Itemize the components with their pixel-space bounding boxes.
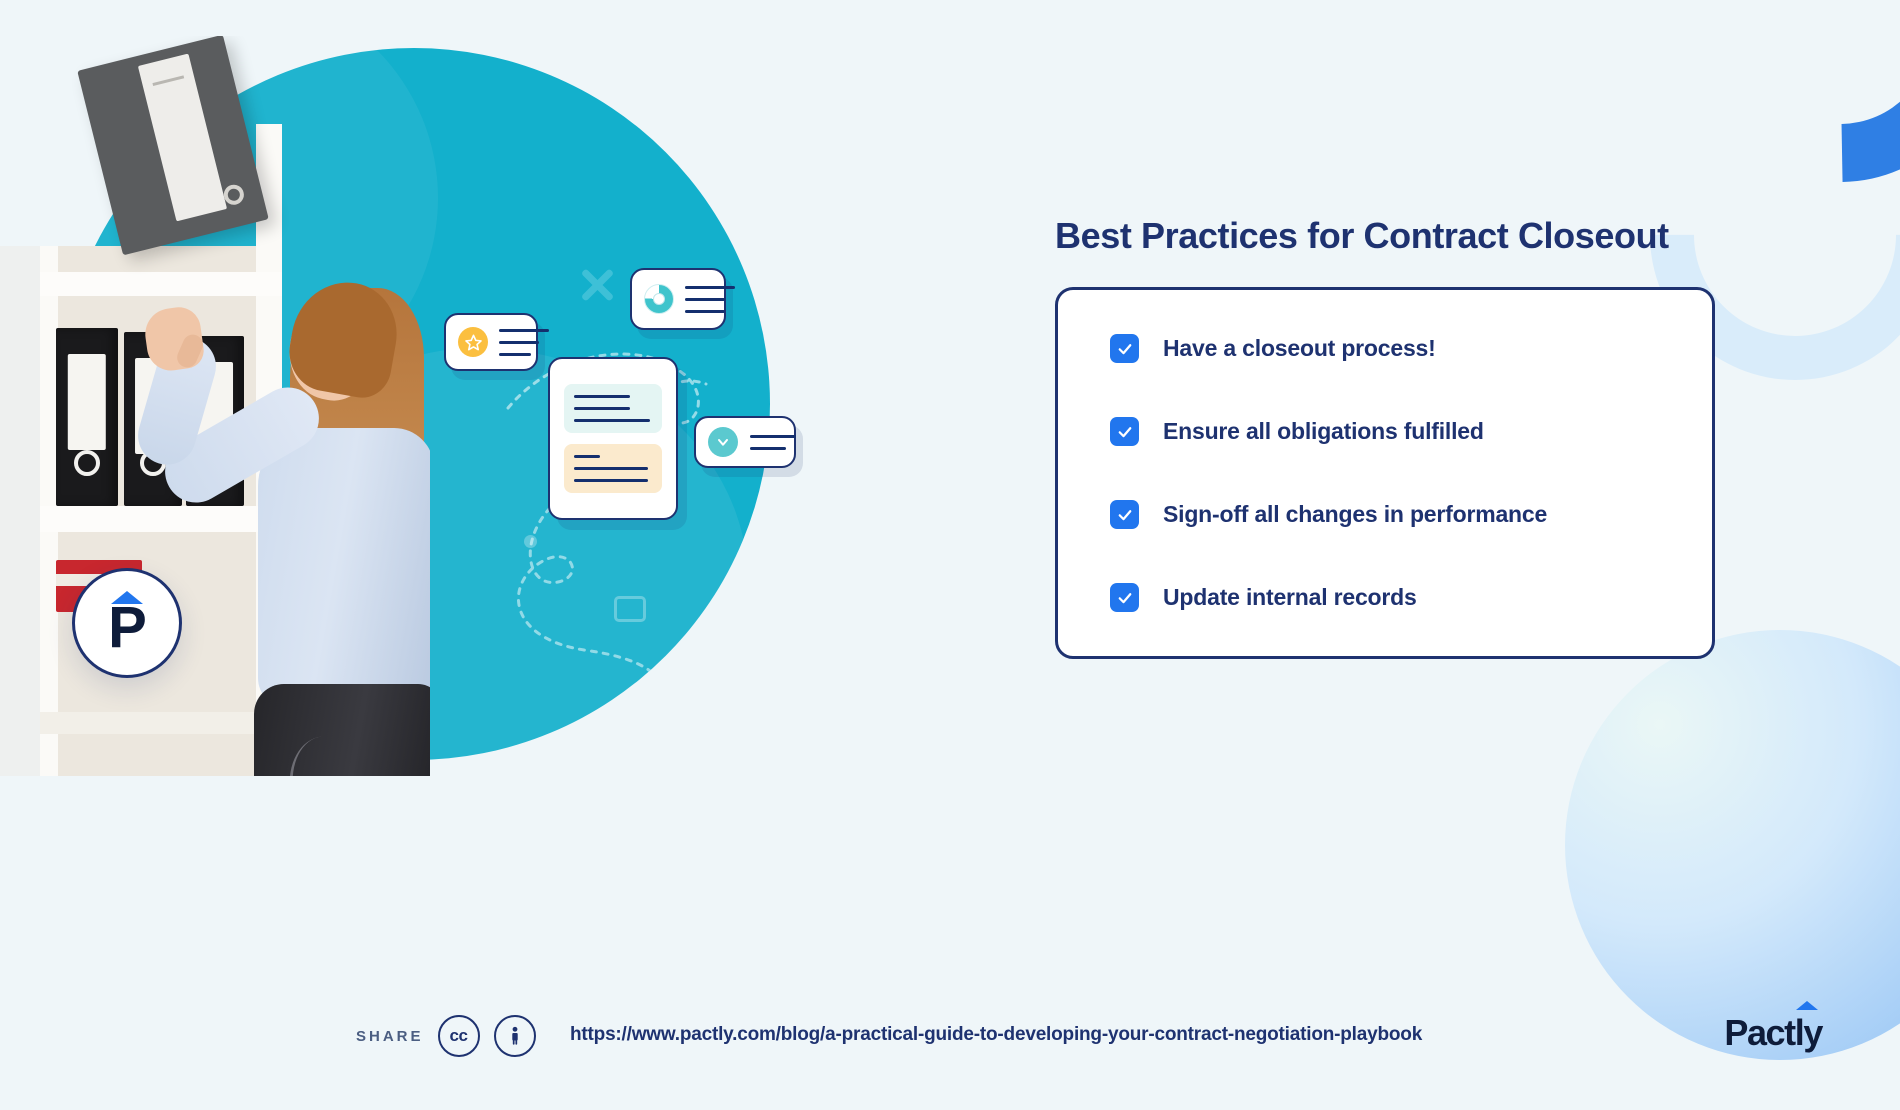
bookshelf-photo [0,36,430,776]
checklist-card: Have a closeout process! Ensure all obli… [1055,287,1715,659]
content-panel: Best Practices for Contract Closeout Hav… [1055,215,1715,659]
donut-chart-icon [644,284,674,314]
star-card-lines [499,329,549,356]
donut-card [630,268,726,330]
pactly-circle-badge: P [72,568,182,678]
footer-url[interactable]: https://www.pactly.com/blog/a-practical-… [570,1024,1422,1046]
creative-commons-icon[interactable]: cc [438,1015,480,1057]
share-label: SHARE [356,1028,424,1045]
pactly-logo: Pactly [1724,1012,1822,1054]
brand-name: Pactly [1724,1012,1822,1054]
checklist-item-label: Have a closeout process! [1163,335,1436,362]
checkbox-checked-icon[interactable] [1110,500,1139,529]
cc-label: cc [450,1026,468,1046]
page-title: Best Practices for Contract Closeout [1055,215,1715,257]
chevron-down-icon [708,427,738,457]
checklist-item-label: Sign-off all changes in performance [1163,501,1547,528]
person-illustration [140,216,430,776]
share-group: SHARE cc [356,1006,536,1066]
checklist-item-2[interactable]: Ensure all obligations fulfilled [1110,417,1660,446]
star-card [444,313,538,371]
checkbox-checked-icon[interactable] [1110,334,1139,363]
held-binder [77,36,269,255]
x-mark-icon [576,263,620,307]
badge-letter: P [108,602,146,654]
wall [0,246,42,776]
check-card [694,416,796,468]
hero-illustration: P [0,0,820,830]
checklist-item-4[interactable]: Update internal records [1110,583,1660,612]
checkbox-checked-icon[interactable] [1110,583,1139,612]
checklist-item-label: Ensure all obligations fulfilled [1163,418,1484,445]
checklist-item-label: Update internal records [1163,584,1417,611]
decorative-gradient-orb [1565,630,1900,1060]
document-section-cream [564,444,662,493]
check-card-lines [750,435,796,450]
document-card [548,357,678,520]
footer: SHARE cc https://www.pactly.com/blog/a-p… [0,1006,1900,1066]
person-icon[interactable] [494,1015,536,1057]
torso [258,428,430,708]
star-icon [458,327,488,357]
checkbox-checked-icon[interactable] [1110,417,1139,446]
decorative-blue-arc [1628,0,1900,244]
caret-icon [1796,1001,1818,1010]
document-section-mint [564,384,662,433]
checklist-item-3[interactable]: Sign-off all changes in performance [1110,500,1660,529]
donut-card-lines [685,286,735,313]
checklist-item-1[interactable]: Have a closeout process! [1110,334,1660,363]
binder [56,328,118,506]
